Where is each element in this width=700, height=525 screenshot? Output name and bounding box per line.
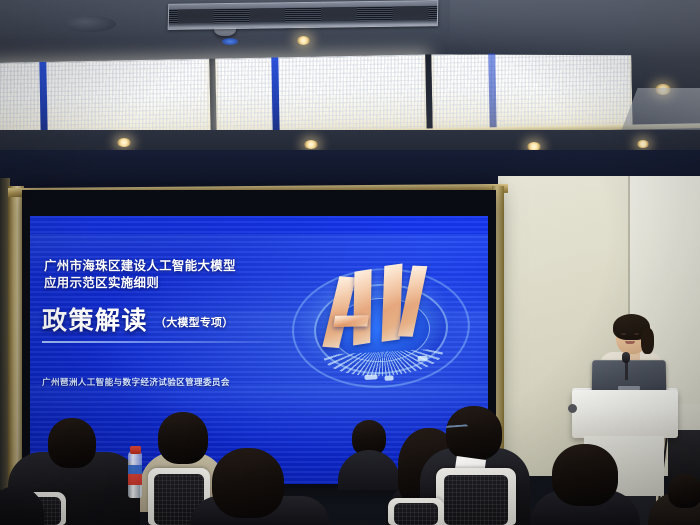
downlight-icon: [117, 138, 131, 147]
ceiling-disc-fixture: [64, 16, 116, 32]
water-bottle-cap: [130, 446, 141, 454]
chair: [388, 498, 444, 525]
chair-mesh-back: [394, 503, 438, 525]
led-panel: [0, 59, 211, 141]
audience-member-head: [212, 448, 284, 518]
vent-slats: [169, 6, 437, 23]
chair-mesh-back: [444, 475, 508, 525]
led-panel: [431, 51, 632, 133]
ai-emblem-chip: [384, 375, 393, 380]
audience-member-head: [48, 418, 96, 468]
ceiling: [0, 0, 700, 152]
speaker-eye-right: [634, 333, 639, 335]
led-blue-stripe: [271, 57, 279, 135]
screen-organization-line: 广州琶洲人工智能与数字经济试验区管理委员会: [42, 376, 230, 388]
screen-subtitle-line1: 广州市海珠区建设人工智能大模型: [44, 258, 304, 275]
speaker-eye-left: [621, 333, 626, 335]
downlight-icon: [304, 140, 318, 149]
blue-indicator-light-icon: [222, 38, 238, 45]
led-panel: [215, 55, 426, 137]
chair: [436, 468, 516, 525]
screen-heading-suffix: （大模型专项）: [155, 317, 233, 329]
water-bottle-label: [128, 465, 142, 485]
screen-divider-rule: [42, 341, 287, 343]
ai-emblem-chip: [364, 374, 377, 380]
led-blue-stripe: [39, 62, 47, 140]
podium-control-knob[interactable]: [568, 404, 577, 413]
ai-emblem-letters: [324, 259, 439, 355]
downlight-icon: [637, 140, 649, 148]
audience-member-head: [552, 444, 618, 506]
ai-emblem-chip: [417, 356, 427, 362]
photo-scene: 广州市海珠区建设人工智能大模型 应用示范区实施细则 政策解读（大模型专项） 广州…: [0, 0, 700, 525]
microphone-icon: [622, 352, 630, 363]
screen-subtitle-line2: 应用示范区实施细则: [44, 275, 304, 292]
podium: [572, 390, 678, 438]
ai-letter-a-stroke: [353, 269, 371, 345]
screen-main-heading: 政策解读（大模型专项）: [42, 306, 233, 338]
downlight-icon: [297, 36, 310, 45]
audience-member-head: [668, 474, 700, 508]
ai-letter-a-stroke: [322, 276, 356, 348]
laptop-logo: [618, 386, 640, 390]
screen-heading-text: 政策解读: [42, 307, 148, 335]
ai-letter-a-crossbar: [333, 315, 369, 327]
ai-emblem: [284, 249, 478, 409]
led-blue-stripe: [488, 53, 496, 131]
audience-member-head: [158, 412, 208, 464]
air-diffuser-vent: [168, 0, 439, 30]
microphone-stem: [625, 362, 628, 380]
speaker-hair-back: [641, 328, 654, 354]
audience-member-head: [446, 406, 502, 460]
screen-subtitle: 广州市海珠区建设人工智能大模型 应用示范区实施细则: [44, 258, 304, 292]
ai-letter-i-stroke: [398, 266, 427, 337]
speaker-mouth: [625, 341, 635, 344]
